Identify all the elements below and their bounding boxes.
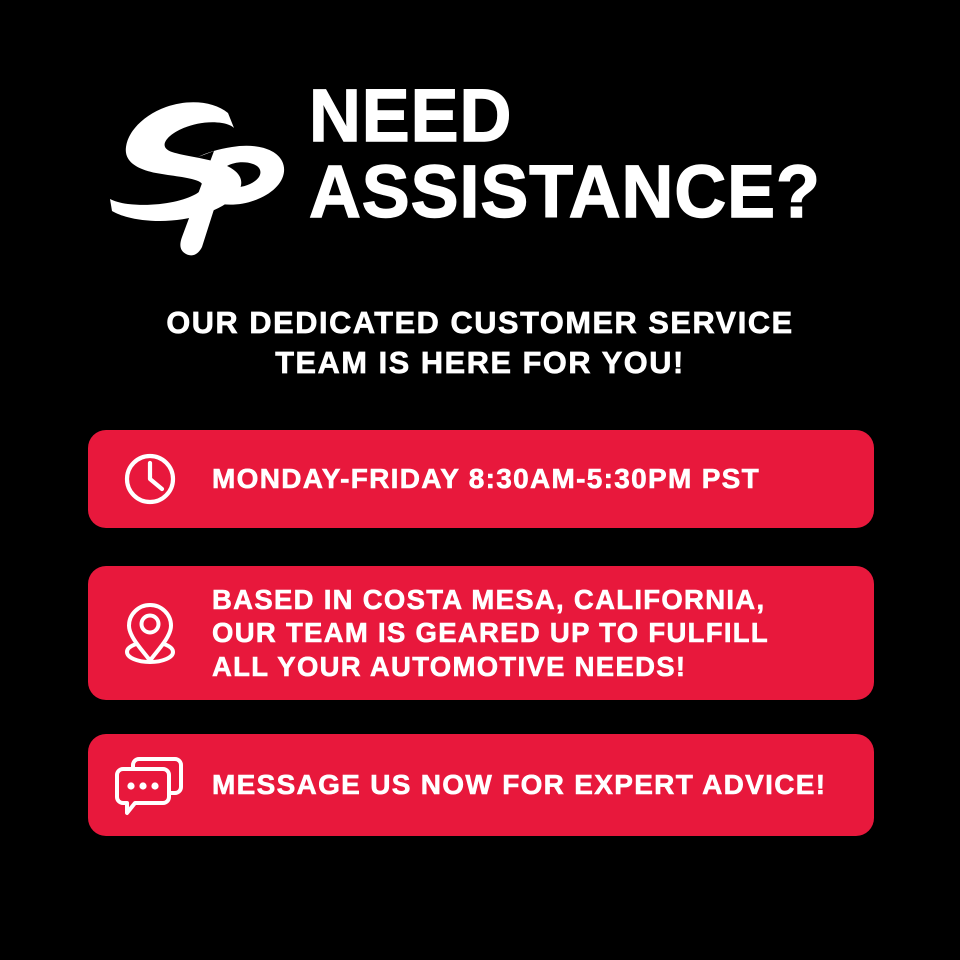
sp-monogram-logo [105, 92, 295, 262]
banner-hours-line-1: MONDAY-FRIDAY 8:30AM-5:30PM PST [212, 463, 850, 496]
banner-location-text: BASED IN COSTA MESA, CALIFORNIA, OUR TEA… [212, 583, 874, 684]
banner-message-line-1: MESSAGE US NOW FOR EXPERT ADVICE! [212, 769, 850, 802]
banner-message[interactable]: MESSAGE US NOW FOR EXPERT ADVICE! [88, 734, 874, 836]
subtitle-line-1: OUR DEDICATED CUSTOMER SERVICE [5, 303, 955, 343]
banner-hours[interactable]: MONDAY-FRIDAY 8:30AM-5:30PM PST [88, 430, 874, 528]
banner-location[interactable]: BASED IN COSTA MESA, CALIFORNIA, OUR TEA… [88, 566, 874, 700]
clock-icon [88, 451, 212, 507]
chat-bubbles-icon [88, 753, 212, 817]
banner-location-line-3: ALL YOUR AUTOMOTIVE NEEDS! [212, 650, 850, 684]
subtitle-line-2: TEAM IS HERE FOR YOU! [5, 343, 955, 383]
header: NEED ASSISTANCE? [0, 86, 960, 266]
banner-location-line-2: OUR TEAM IS GEARED UP TO FULFILL [212, 616, 850, 650]
banner-message-text: MESSAGE US NOW FOR EXPERT ADVICE! [212, 769, 874, 802]
subtitle: OUR DEDICATED CUSTOMER SERVICE TEAM IS H… [0, 303, 960, 382]
banner-hours-text: MONDAY-FRIDAY 8:30AM-5:30PM PST [212, 463, 874, 496]
headline-line-1: NEED [309, 82, 839, 151]
sp-logo-icon [110, 97, 290, 257]
page-title: NEED ASSISTANCE? [295, 82, 855, 227]
promo-graphic-canvas: NEED ASSISTANCE? OUR DEDICATED CUSTOMER … [0, 0, 960, 960]
banner-location-line-1: BASED IN COSTA MESA, CALIFORNIA, [212, 583, 850, 617]
headline-line-2: ASSISTANCE? [309, 158, 839, 227]
location-pin-icon [88, 598, 212, 668]
